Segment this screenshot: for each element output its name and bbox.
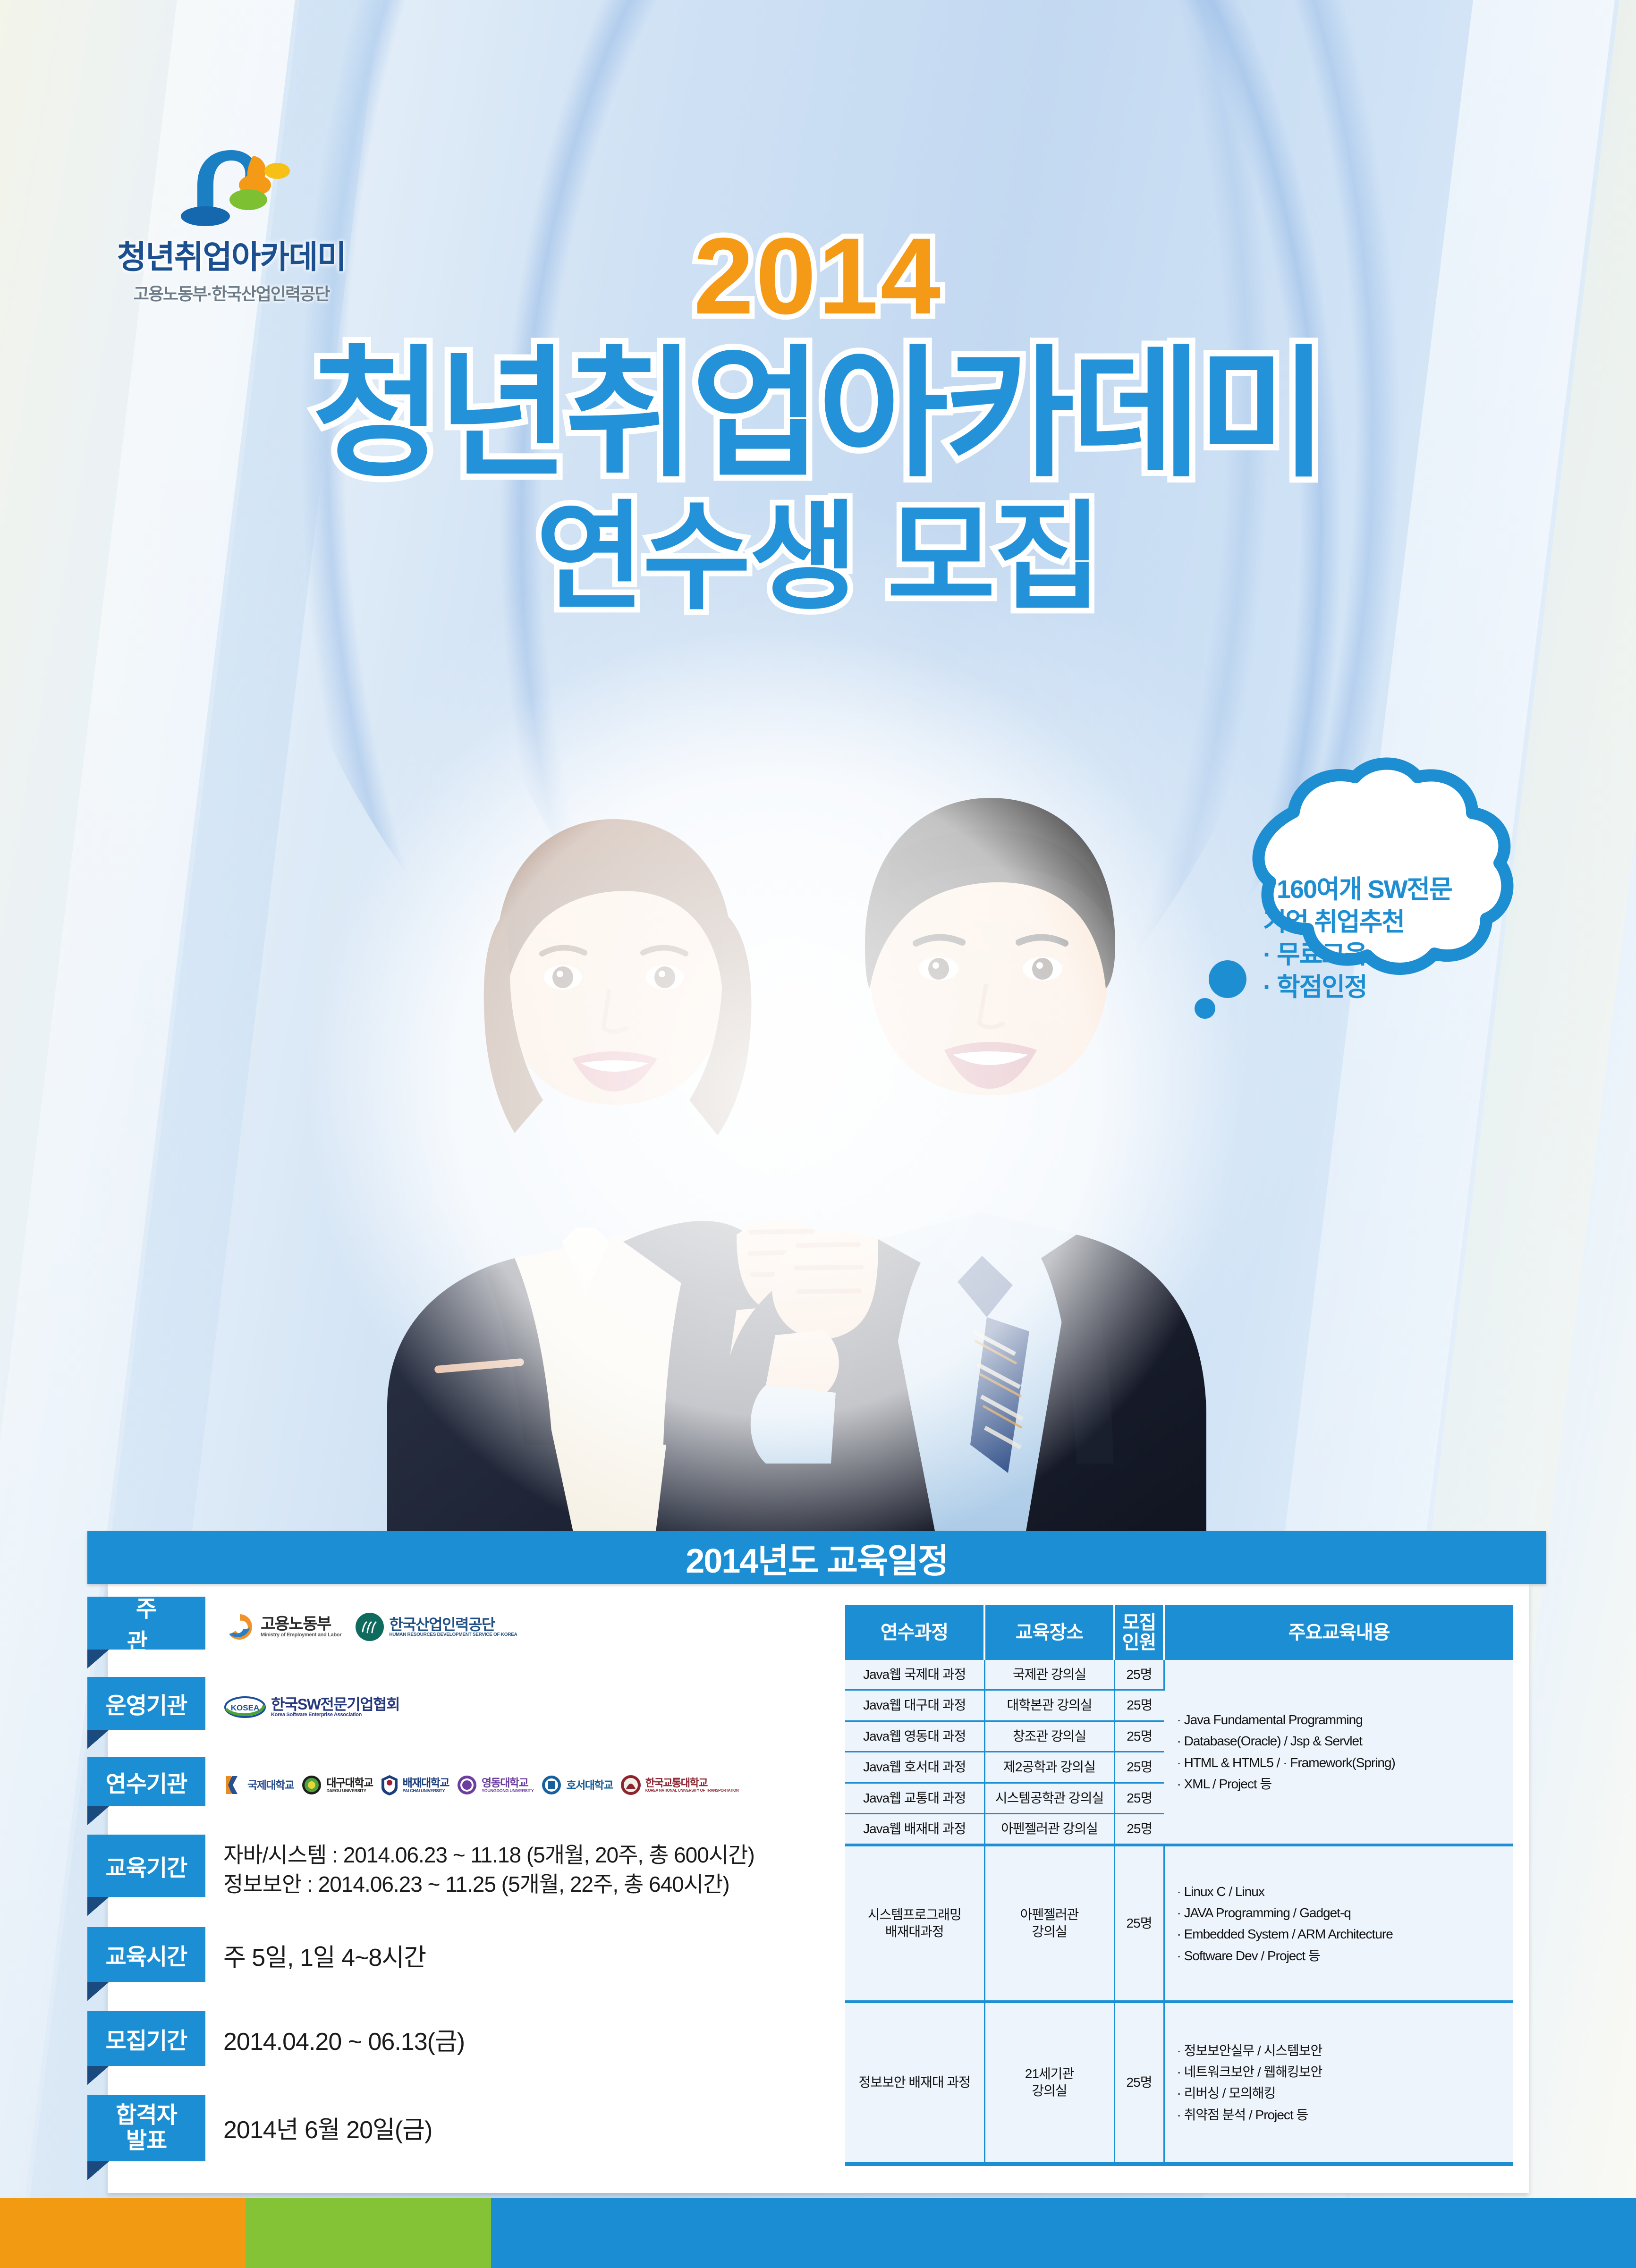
cell-quota: 25명: [1114, 1845, 1164, 2002]
svg-text:KOSEA: KOSEA: [231, 1703, 259, 1712]
cell-course: Java웹 호서대 과정: [845, 1752, 984, 1783]
cell-quota: 25명: [1114, 1690, 1164, 1721]
photo-glow: [302, 623, 1246, 1567]
cell-place: 시스템공학관 강의실: [984, 1783, 1114, 1813]
bubble-line-1: · 160여개 SW전문: [1263, 873, 1509, 906]
info-label-announce: 합격자 발표: [87, 2095, 205, 2161]
th-quota: 모집 인원: [1114, 1605, 1164, 1660]
info-row-operator: 운영기관 KOSEA 한국SW전문기업협회 Korea Software Ent…: [87, 1677, 805, 1737]
cell-content-system: · Linux C / Linux · JAVA Programming / G…: [1164, 1845, 1513, 2002]
moel-emblem-icon: [223, 1610, 256, 1643]
cell-course: 정보보안 배재대 과정: [845, 2002, 984, 2164]
info-label-host: 주 관: [87, 1597, 205, 1650]
cell-course: Java웹 영동대 과정: [845, 1721, 984, 1752]
cell-quota: 25명: [1114, 1660, 1164, 1690]
cell-course: Java웹 배재대 과정: [845, 1813, 984, 1845]
logo-paichai-en: PAI CHAI UNIVERSITY: [403, 1788, 449, 1793]
academy-mark-icon: [161, 142, 302, 229]
logo-youngdong-name: 영동대학교: [482, 1777, 534, 1788]
logo-kosea: KOSEA 한국SW전문기업협회 Korea Software Enterpri…: [223, 1693, 399, 1721]
info-label-institutions: 연수기관: [87, 1757, 205, 1806]
students-photo: [359, 708, 1209, 1567]
info-value-period: 자바/시스템 : 2014.06.23 ~ 11.18 (5개월, 20주, 총…: [205, 1841, 805, 1899]
hrdkorea-emblem-icon: [355, 1612, 385, 1642]
program-logo: 청년취업아카데미 고용노동부·한국산업인력공단: [113, 142, 349, 305]
knut-emblem-icon: [620, 1774, 641, 1796]
logo-hrdkorea-name: 한국산업인력공단: [389, 1617, 517, 1632]
host-logos: 고용노동부 Ministry of Employment and Labor 한…: [205, 1610, 805, 1643]
info-label-period: 교육기간: [87, 1835, 205, 1897]
logo-moel: 고용노동부 Ministry of Employment and Labor: [223, 1610, 341, 1643]
logo-daegu-name: 대구대학교: [326, 1777, 373, 1788]
cell-place: 아펜젤러관 강의실: [984, 1845, 1114, 2002]
benefits-thought-bubble: · 160여개 SW전문 기업 취업추천 · 무료교육 · 학점인정: [1176, 755, 1525, 1020]
info-row-institutions: 연수기관 국제대학교 대구대학교 DAEGU UNIVERSITY: [87, 1757, 805, 1813]
kookje-emblem-icon: [223, 1774, 243, 1796]
cell-place: 창조관 강의실: [984, 1721, 1114, 1752]
cell-course: 시스템프로그래밍 배재대과정: [845, 1845, 984, 2002]
cell-quota: 25명: [1114, 1721, 1164, 1752]
info-label-hours: 교육시간: [87, 1927, 205, 1982]
info-value-announce: 2014년 6월 20일(금): [205, 2114, 805, 2147]
cell-course: Java웹 대구대 과정: [845, 1690, 984, 1721]
logo-daegu-en: DAEGU UNIVERSITY: [326, 1788, 373, 1793]
cell-quota: 25명: [1114, 2002, 1164, 2164]
hoseo-emblem-icon: [541, 1774, 562, 1796]
logo-knut-en: KOREA NATIONAL UNIVERSITY OF TRANSPORTAT…: [645, 1788, 739, 1793]
info-value-hours: 주 5일, 1일 4~8시간: [205, 1942, 805, 1975]
th-place: 교육장소: [984, 1605, 1114, 1660]
logo-hoseo-name: 호서대학교: [566, 1780, 612, 1791]
table-row: 시스템프로그래밍 배재대과정 아펜젤러관 강의실 25명 · Linux C /…: [845, 1845, 1513, 2002]
institution-logos: 국제대학교 대구대학교 DAEGU UNIVERSITY 배재대학교 PAI C…: [205, 1774, 805, 1796]
bubble-line-2: 기업 취업추천: [1263, 906, 1509, 939]
schedule-banner-title: 2014년도 교육일정: [686, 1533, 948, 1583]
operator-logos: KOSEA 한국SW전문기업협회 Korea Software Enterpri…: [205, 1693, 805, 1721]
kosea-emblem-icon: KOSEA: [223, 1693, 267, 1721]
info-row-apply: 모집기간 2014.04.20 ~ 06.13(금): [87, 2011, 805, 2073]
logo-daegu: 대구대학교 DAEGU UNIVERSITY: [301, 1774, 373, 1796]
cell-place: 국제관 강의실: [984, 1660, 1114, 1690]
cell-place: 제2공학과 강의실: [984, 1752, 1114, 1783]
youngdong-emblem-icon: [457, 1774, 477, 1796]
logo-moel-en: Ministry of Employment and Labor: [261, 1632, 341, 1638]
info-row-period: 교육기간 자바/시스템 : 2014.06.23 ~ 11.18 (5개월, 2…: [87, 1835, 805, 1905]
schedule-banner: 2014년도 교육일정: [87, 1531, 1546, 1584]
table-row: 정보보안 배재대 과정 21세기관 강의실 25명 · 정보보안실무 / 시스템…: [845, 2002, 1513, 2164]
info-label-apply: 모집기간: [87, 2011, 205, 2066]
logo-kookje: 국제대학교: [223, 1774, 294, 1796]
info-row-announce: 합격자 발표 2014년 6월 20일(금): [87, 2095, 805, 2166]
info-label-operator: 운영기관: [87, 1677, 205, 1730]
cell-content-java: · Java Fundamental Programming · Databas…: [1164, 1660, 1513, 1845]
logo-moel-name: 고용노동부: [261, 1616, 341, 1632]
logo-subtitle: 고용노동부·한국산업인력공단: [113, 280, 349, 305]
footer-band-orange: [0, 2198, 246, 2268]
cell-quota: 25명: [1114, 1783, 1164, 1813]
footer-color-bar: [0, 2198, 1636, 2268]
cell-course: Java웹 국제대 과정: [845, 1660, 984, 1690]
logo-hrdkorea-en: HUMAN RESOURCES DEVELOPMENT SERVICE OF K…: [389, 1632, 517, 1637]
th-content: 주요교육내용: [1164, 1605, 1513, 1660]
logo-hoseo: 호서대학교: [541, 1774, 612, 1796]
logo-kosea-name: 한국SW전문기업협회: [271, 1697, 399, 1712]
footer-band-green: [246, 2198, 491, 2268]
logo-youngdong: 영동대학교 YOUNGDONG UNIVERSITY: [457, 1774, 534, 1796]
bubble-line-4: · 학점인정: [1263, 971, 1509, 1004]
logo-youngdong-en: YOUNGDONG UNIVERSITY: [482, 1788, 534, 1793]
cell-course: Java웹 교통대 과정: [845, 1783, 984, 1813]
cell-place: 아펜젤러관 강의실: [984, 1813, 1114, 1845]
cell-place: 대학본관 강의실: [984, 1690, 1114, 1721]
th-course: 연수과정: [845, 1605, 984, 1660]
info-row-hours: 교육시간 주 5일, 1일 4~8시간: [87, 1927, 805, 1989]
logo-paichai: 배재대학교 PAI CHAI UNIVERSITY: [381, 1774, 449, 1796]
logo-knut-name: 한국교통대학교: [645, 1778, 739, 1788]
logo-paichai-name: 배재대학교: [403, 1777, 449, 1788]
table-header-row: 연수과정 교육장소 모집 인원 주요교육내용: [845, 1605, 1513, 1660]
table-row: Java웹 국제대 과정 국제관 강의실 25명 · Java Fundamen…: [845, 1660, 1513, 1690]
footer-band-blue: [491, 2198, 1636, 2268]
daegu-emblem-icon: [301, 1774, 322, 1796]
cell-quota: 25명: [1114, 1752, 1164, 1783]
cell-content-security: · 정보보안실무 / 시스템보안 · 네트워크보안 / 웹해킹보안 · 리버싱 …: [1164, 2002, 1513, 2164]
info-value-apply: 2014.04.20 ~ 06.13(금): [205, 2026, 805, 2059]
logo-kookje-name: 국제대학교: [247, 1780, 294, 1791]
program-info-list: 주 관 고용노동부 Ministry of Employment and Lab…: [87, 1597, 805, 2169]
course-schedule-table: 연수과정 교육장소 모집 인원 주요교육내용 Java웹 국제대 과정 국제관 …: [845, 1605, 1513, 2166]
bubble-line-3: · 무료교육: [1263, 939, 1509, 971]
logo-title: 청년취업아카데미: [113, 231, 349, 278]
info-row-host: 주 관 고용노동부 Ministry of Employment and Lab…: [87, 1597, 805, 1657]
cell-quota: 25명: [1114, 1813, 1164, 1845]
bubble-text: · 160여개 SW전문 기업 취업추천 · 무료교육 · 학점인정: [1263, 873, 1509, 1004]
cell-place: 21세기관 강의실: [984, 2002, 1114, 2164]
logo-hrdkorea: 한국산업인력공단 HUMAN RESOURCES DEVELOPMENT SER…: [355, 1612, 517, 1642]
paichai-emblem-icon: [381, 1774, 398, 1796]
logo-knut: 한국교통대학교 KOREA NATIONAL UNIVERSITY OF TRA…: [620, 1774, 739, 1796]
